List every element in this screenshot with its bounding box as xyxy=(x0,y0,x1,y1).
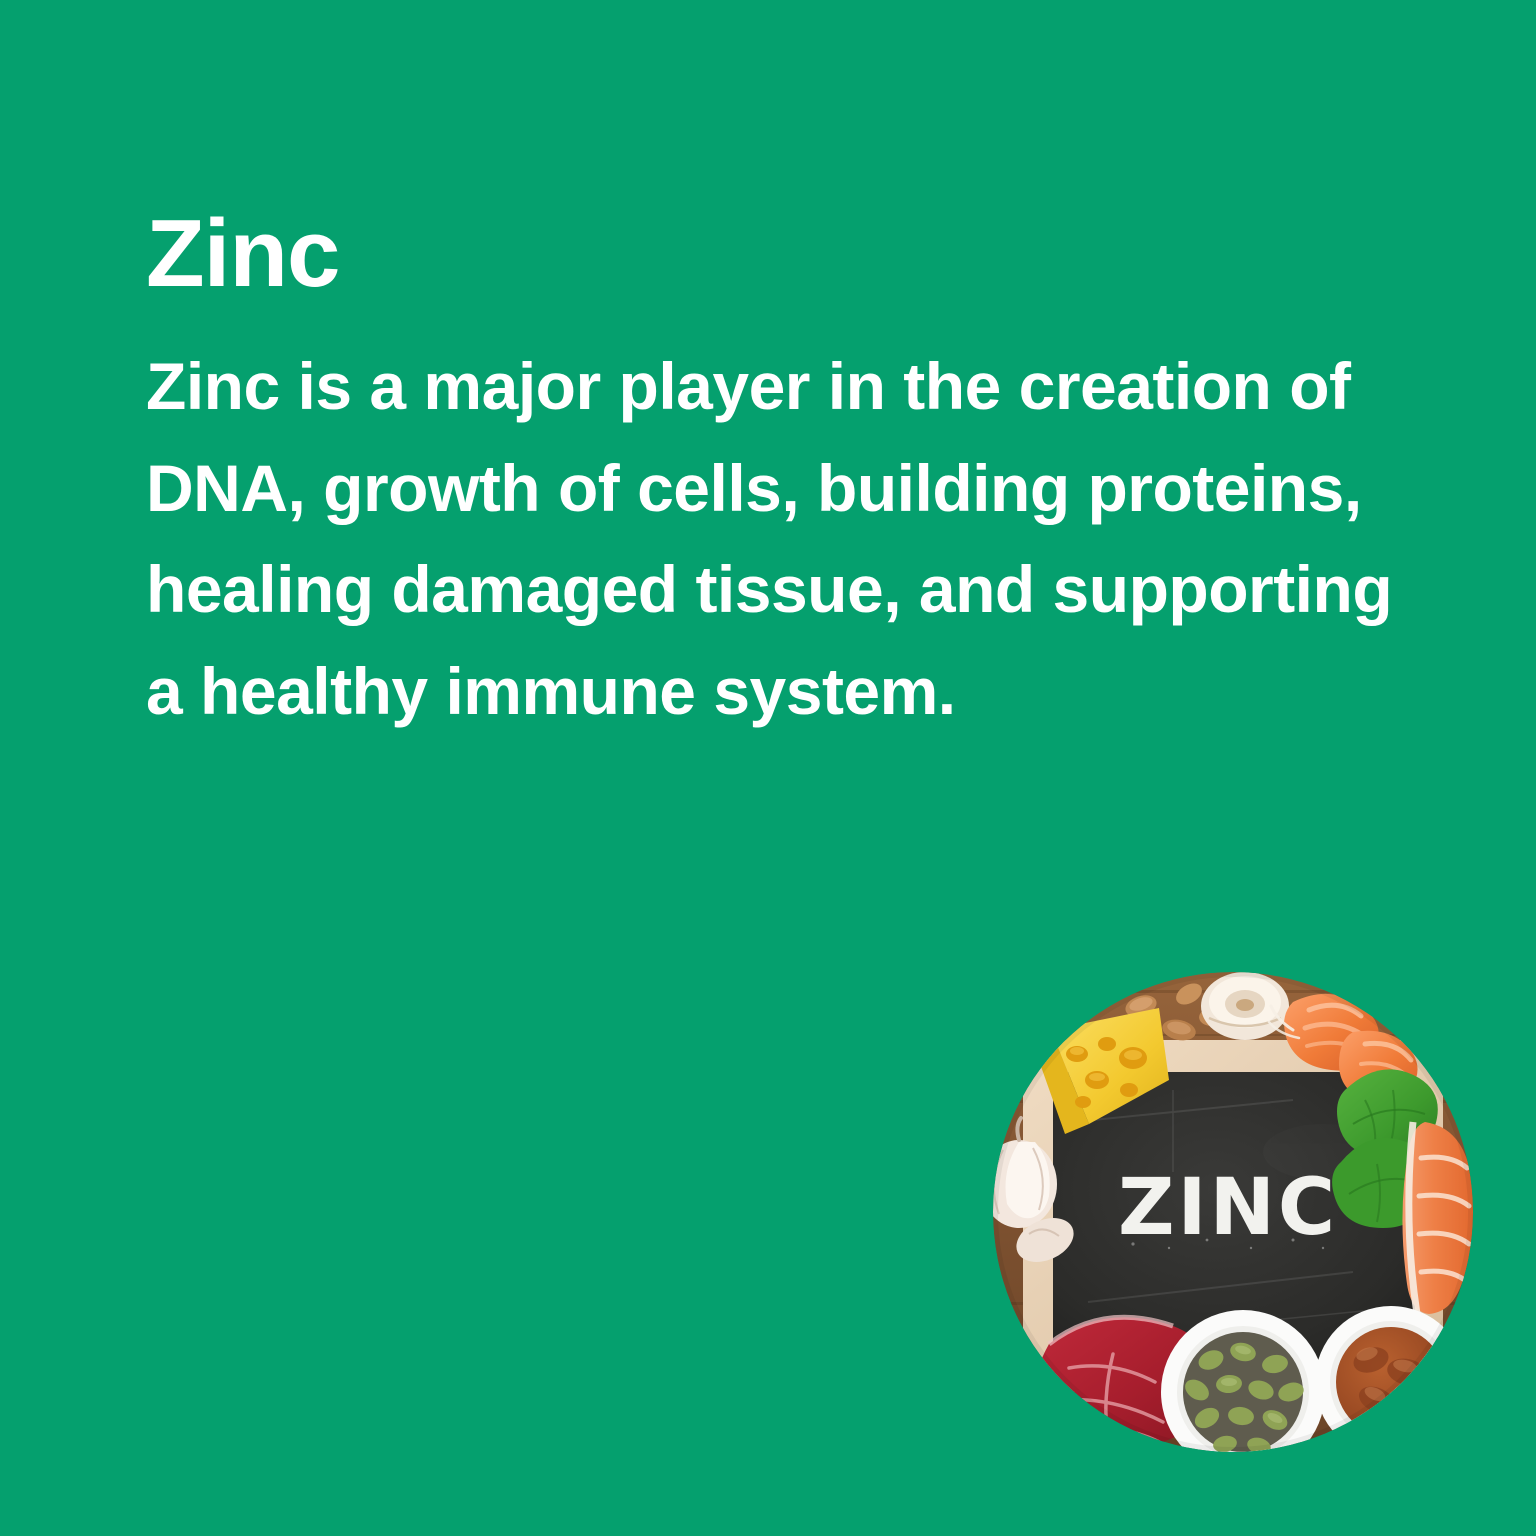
description-paragraph: Zinc is a major player in the creation o… xyxy=(146,336,1436,743)
zinc-info-card: Zinc Zinc is a major player in the creat… xyxy=(0,0,1536,1536)
chalk-zinc-label: ZINC xyxy=(1118,1163,1338,1253)
page-title: Zinc xyxy=(146,206,1446,302)
cocoa-powder-bowl xyxy=(1315,1306,1467,1452)
zinc-foods-illustration: ZINC xyxy=(993,972,1473,1452)
zinc-foods-photo: ZINC xyxy=(993,972,1473,1452)
chalkboard-zinc-text: ZINC xyxy=(1118,1163,1338,1253)
text-content-block: Zinc Zinc is a major player in the creat… xyxy=(146,206,1446,743)
